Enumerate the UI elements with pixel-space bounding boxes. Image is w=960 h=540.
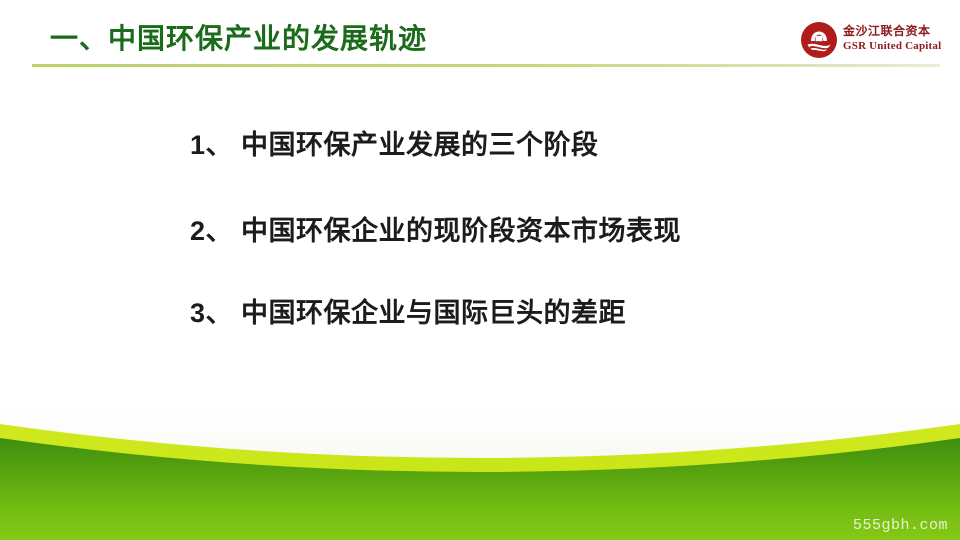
title-divider (32, 64, 940, 67)
list-item-number: 3、 (190, 298, 233, 328)
wave-fill (0, 438, 960, 540)
list-item-number: 2、 (190, 216, 233, 246)
list-item: 1、中国环保产业发展的三个阶段 (190, 125, 750, 165)
grass-silhouette (57, 442, 947, 501)
watermark-text: 555gbh.com (853, 517, 948, 534)
agenda-list: 1、中国环保产业发展的三个阶段 2、中国环保企业的现阶段资本市场表现 3、中国环… (190, 125, 750, 333)
list-item: 3、中国环保企业与国际巨头的差距 (190, 293, 750, 333)
bottom-decoration: 555gbh.com (0, 380, 960, 540)
brand-name-cn: 金沙江联合资本 (843, 24, 943, 39)
brand-logo-text: 金沙江联合资本 GSR United Capital (843, 24, 943, 53)
list-item-label: 中国环保企业的现阶段资本市场表现 (233, 216, 681, 246)
brand-name-en: GSR United Capital (843, 39, 943, 53)
slide-canvas: 一、中国环保产业的发展轨迹 金沙江联合资本 GSR United Capital (0, 0, 960, 540)
gsr-emblem-icon (800, 21, 838, 59)
list-item: 2、中国环保企业的现阶段资本市场表现 (190, 211, 750, 251)
list-item-label: 中国环保企业与国际巨头的差距 (233, 298, 626, 328)
slide-header: 一、中国环保产业的发展轨迹 金沙江联合资本 GSR United Capital (0, 0, 960, 80)
wave-edge-band (0, 424, 960, 540)
brand-logo: 金沙江联合资本 GSR United Capital (800, 20, 945, 62)
page-title: 一、中国环保产业的发展轨迹 (50, 21, 427, 57)
list-item-label: 中国环保产业发展的三个阶段 (233, 130, 599, 160)
list-item-number: 1、 (190, 130, 233, 160)
